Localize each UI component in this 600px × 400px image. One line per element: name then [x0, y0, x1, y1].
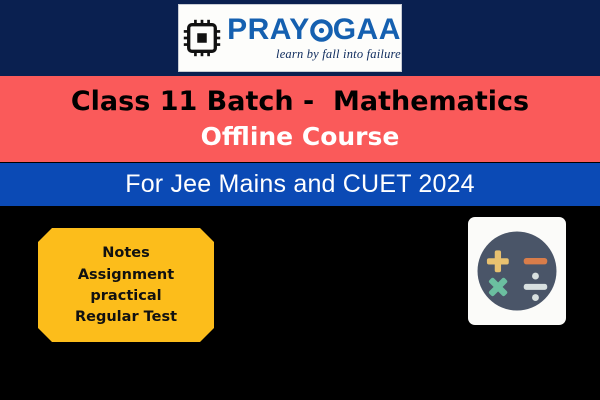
microchip-icon	[183, 19, 221, 57]
exam-band: For Jee Mains and CUET 2024	[0, 163, 600, 206]
brand-word-part1: PRAY	[227, 15, 310, 45]
course-title: Class 11 Batch - Mathematics	[71, 88, 529, 116]
brand-letter-o-target	[310, 17, 333, 43]
features-callout: Notes Assignment practical Regular Test	[38, 228, 214, 342]
feature-item-notes: Notes	[102, 243, 150, 264]
exam-target-text: For Jee Mains and CUET 2024	[125, 170, 475, 199]
brand-tagline: learn by fall into failure	[276, 48, 401, 61]
minus-icon	[524, 258, 548, 264]
feature-item-regular-test: Regular Test	[75, 307, 177, 328]
brand-logo: PRAYGAA learn by fall into failure	[179, 15, 401, 61]
feature-item-practical: practical	[90, 286, 161, 307]
brand-wordmark: PRAYGAA	[227, 15, 401, 45]
brand-word-part2: GAA	[333, 15, 401, 45]
header-band: PRAYGAA learn by fall into failure	[0, 0, 600, 76]
math-icon-panel	[468, 217, 566, 325]
brand-text: PRAYGAA learn by fall into failure	[227, 15, 401, 61]
course-poster: PRAYGAA learn by fall into failure Class…	[0, 0, 600, 400]
math-icon-circle	[478, 232, 557, 311]
headline-band: Class 11 Batch - Mathematics Offline Cou…	[0, 76, 600, 162]
brand-logo-card: PRAYGAA learn by fall into failure	[178, 4, 402, 72]
feature-item-assignment: Assignment	[78, 265, 174, 286]
math-operations-icon	[475, 229, 559, 313]
course-mode: Offline Course	[201, 124, 400, 150]
